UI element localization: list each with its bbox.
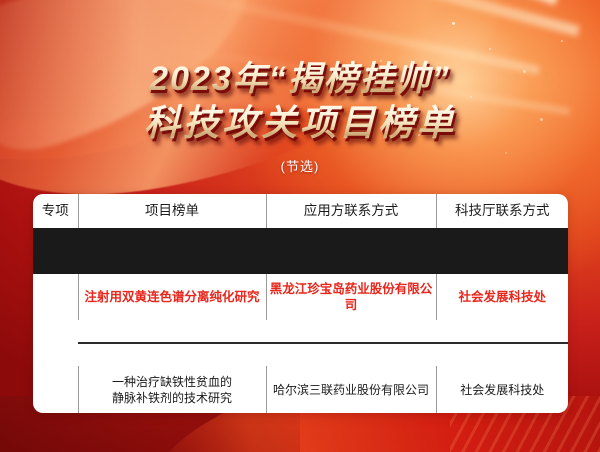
col-header-project: 项目榜单 xyxy=(78,194,266,228)
col-header-applicant: 应用方联系方式 xyxy=(266,194,436,228)
row-separator xyxy=(33,320,568,366)
col-header-category: 专项 xyxy=(33,194,78,228)
row-department-cell: 社会发展科技处 xyxy=(436,274,568,320)
poster-root: 2023年“揭榜挂帅” 科技攻关项目榜单 (节选) 专项 项目榜单 应用方联系方… xyxy=(0,0,600,452)
header-rule xyxy=(33,228,568,274)
cell-line: 哈尔滨三联药业股份有限公司 xyxy=(270,382,433,398)
table-header-row: 专项 项目榜单 应用方联系方式 科技厅联系方式 xyxy=(33,194,568,228)
project-table-card: 专项 项目榜单 应用方联系方式 科技厅联系方式 02生物经济注射用双黄连色谱分离… xyxy=(33,194,568,413)
col-header-department: 科技厅联系方式 xyxy=(436,194,568,228)
cell-line: 静脉补铁剂的技术研究 xyxy=(82,390,263,406)
row-department-cell: 社会发展科技处 xyxy=(436,366,568,413)
table-row[interactable]: 一种治疗缺铁性贫血的静脉补铁剂的技术研究哈尔滨三联药业股份有限公司社会发展科技处 xyxy=(33,366,568,413)
cell-line: 一种治疗缺铁性贫血的 xyxy=(82,374,263,390)
row-separator-line xyxy=(78,320,568,366)
cell-line: 社会发展科技处 xyxy=(440,289,566,305)
project-table: 专项 项目榜单 应用方联系方式 科技厅联系方式 02生物经济注射用双黄连色谱分离… xyxy=(33,194,568,413)
header-rule-line xyxy=(33,228,568,274)
row-category-cell: 02生物经济 xyxy=(33,274,78,413)
title-line-2: 科技攻关项目榜单 xyxy=(0,102,600,144)
row-applicant-cell: 哈尔滨三联药业股份有限公司 xyxy=(266,366,436,413)
cell-line: 黑龙江珍宝岛药业股份有限公司 xyxy=(270,281,433,313)
title-line-1: 2023年“揭榜挂帅” xyxy=(0,58,600,100)
table-body: 02生物经济注射用双黄连色谱分离纯化研究黑龙江珍宝岛药业股份有限公司社会发展科技… xyxy=(33,228,568,413)
cell-line: 社会发展科技处 xyxy=(440,382,566,398)
row-project-cell: 注射用双黄连色谱分离纯化研究 xyxy=(78,274,266,320)
row-applicant-cell: 黑龙江珍宝岛药业股份有限公司 xyxy=(266,274,436,320)
row-project-cell: 一种治疗缺铁性贫血的静脉补铁剂的技术研究 xyxy=(78,366,266,413)
poster-subtitle: (节选) xyxy=(0,156,600,175)
table-row[interactable]: 02生物经济注射用双黄连色谱分离纯化研究黑龙江珍宝岛药业股份有限公司社会发展科技… xyxy=(33,274,568,320)
cell-line: 注射用双黄连色谱分离纯化研究 xyxy=(82,289,263,305)
table-head: 专项 项目榜单 应用方联系方式 科技厅联系方式 xyxy=(33,194,568,228)
poster-title: 2023年“揭榜挂帅” 科技攻关项目榜单 xyxy=(0,58,600,144)
